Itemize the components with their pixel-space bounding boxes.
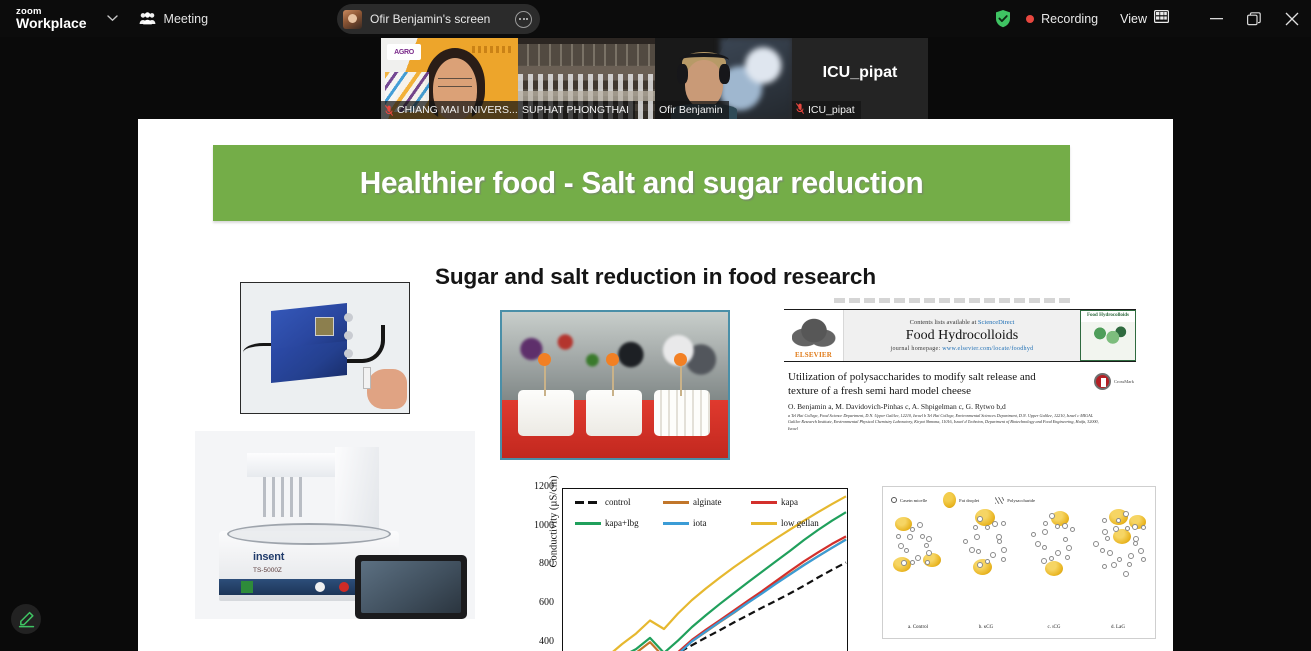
chevron-down-icon[interactable] (105, 11, 121, 27)
screen-share-indicator[interactable]: Ofir Benjamin's screen (337, 4, 540, 34)
people-group-icon (139, 12, 156, 25)
chart-y-tick: 400 (539, 636, 554, 647)
participant-video-strip: AGRO CHIANG MAI UNIVERS... SUPHAT PHONGT… (381, 38, 928, 119)
chart-legend-label: kapa (781, 497, 798, 507)
insent-touchscreen-monitor (355, 555, 467, 619)
micelle-panel-label-d: d. LaG (1087, 625, 1149, 630)
chart-legend-item: alginate (663, 497, 749, 507)
figure-micelle-schematic: Casein micelle Fat droplet Polysaccharid… (882, 486, 1156, 639)
insent-sensor-probes (263, 477, 305, 517)
layout-grid-icon (1154, 10, 1169, 28)
casein-micelle (1062, 523, 1068, 529)
chart-legend-item: kapa (751, 497, 837, 507)
crossmark-label: CrossMark (1114, 379, 1134, 384)
faint-header-line (834, 298, 1074, 303)
casein-micelle (1001, 557, 1006, 562)
legend-swatch (663, 522, 689, 525)
chart-y-tick: 1000 (534, 520, 554, 531)
recording-indicator[interactable]: Recording (1026, 12, 1098, 26)
mic-muted-icon (796, 103, 804, 117)
casein-micelle (1107, 550, 1113, 556)
zoom-titlebar: zoom Workplace Meeting Ofir Benjamin's s… (0, 0, 1311, 37)
casein-micelle (1123, 571, 1129, 577)
casein-micelle (910, 527, 915, 532)
casein-micelle (997, 539, 1002, 544)
legend-swatch (663, 501, 689, 504)
instrument-lower-unit (271, 341, 347, 383)
casein-micelle (1100, 548, 1105, 553)
sample-pick-3 (680, 362, 682, 396)
sample-flag-2 (606, 353, 619, 366)
insent-robot-arm (247, 453, 343, 477)
window-controls (1197, 0, 1311, 37)
casein-micelle (907, 534, 913, 540)
legend-label-casein: Casein micelle (900, 498, 927, 503)
legend-item-casein: Casein micelle (891, 497, 927, 503)
casein-micelle (915, 555, 921, 561)
casein-micelle (969, 547, 975, 553)
participant-name-label: Ofir Benjamin (655, 101, 729, 119)
participant-name-text: Ofir Benjamin (659, 104, 723, 116)
journal-cover-artwork (1088, 323, 1128, 349)
video-tile-suphat-phongthai[interactable]: SUPHAT PHONGTHAI (518, 38, 655, 119)
instrument-hose (347, 325, 385, 363)
casein-micelle (1035, 541, 1041, 547)
casein-micelle (985, 525, 990, 530)
casein-micelle (1141, 525, 1146, 530)
casein-micelle (1128, 553, 1134, 559)
recording-label: Recording (1041, 12, 1098, 26)
participant-glasses (438, 78, 472, 87)
chart-y-tick: 600 (539, 597, 554, 608)
casein-micelle (1065, 555, 1070, 560)
chart-plot-area: controlalginatekapakapa+lbgiotalow gella… (562, 488, 848, 651)
casein-micelle (925, 560, 930, 565)
figure-journal-article-screenshot: ELSEVIER Contents lists available at Sci… (784, 295, 1136, 433)
operator-hand (367, 369, 407, 409)
casein-micelle (1042, 545, 1047, 550)
casein-micelle (926, 536, 932, 542)
insent-model-label: TS-5000Z (253, 567, 282, 574)
participant-avatar (343, 10, 362, 29)
micelle-panel-label-b: b. κCG (955, 625, 1017, 630)
casein-micelle (1141, 557, 1146, 562)
headphone-left-cup (677, 64, 688, 84)
chart-legend-label: kapa+lbg (605, 518, 639, 528)
article-authors: O. Benjamin a, M. Davidovich-Pinhas c, A… (788, 402, 1088, 411)
casein-micelle (977, 516, 983, 522)
casein-micelle-icon (891, 497, 897, 503)
article-affiliations: a Tel Hai College, Food Science Departme… (788, 413, 1104, 432)
view-label: View (1120, 12, 1147, 26)
micelle-panel-label-a: a. Control (887, 625, 949, 630)
casein-micelle (904, 548, 909, 553)
casein-micelle (1041, 558, 1047, 564)
casein-micelle (1127, 562, 1132, 567)
casein-micelle (1043, 521, 1048, 526)
homepage-link[interactable]: www.elsevier.com/locate/foodhyd (942, 346, 1033, 352)
chart-legend-item: low gellan (751, 518, 837, 528)
casein-micelle (990, 552, 996, 558)
insent-red-button (339, 582, 349, 592)
screen-share-label: Ofir Benjamin's screen (370, 12, 515, 26)
participant-name-text: CHIANG MAI UNIVERS... (397, 104, 518, 116)
figure-cheese-samples-photo (500, 310, 730, 460)
chart-legend-label: alginate (693, 497, 722, 507)
sample-pick-1 (544, 362, 546, 396)
micelle-cluster-d (1089, 507, 1153, 581)
journal-name: Food Hydrocolloids (906, 328, 1018, 344)
elsevier-tree-icon (792, 317, 836, 351)
chart-legend-label: control (605, 497, 631, 507)
view-button[interactable]: View (1120, 10, 1169, 28)
more-options-icon[interactable] (515, 11, 532, 28)
casein-micelle (974, 534, 980, 540)
chart-y-tick: 800 (539, 558, 554, 569)
slide-title-banner: Healthier food - Salt and sugar reductio… (213, 145, 1070, 221)
legend-swatch (751, 501, 777, 504)
video-tile-chiang-mai[interactable]: AGRO CHIANG MAI UNIVERS... (381, 38, 518, 119)
casein-micelle (1049, 513, 1055, 519)
legend-swatch (751, 522, 777, 525)
insent-sample-carousel (227, 523, 391, 545)
casein-micelle (1105, 536, 1110, 541)
casein-micelle (976, 549, 981, 554)
instrument-display (315, 317, 334, 336)
casein-micelle (898, 543, 904, 549)
elsevier-wordmark: ELSEVIER (795, 351, 832, 359)
casein-micelle (896, 534, 901, 539)
casein-micelle (1049, 556, 1054, 561)
casein-micelle (1138, 548, 1144, 554)
participant-display-name: ICU_pipat (792, 64, 928, 82)
minimize-icon[interactable] (1197, 0, 1235, 37)
casein-micelle (1102, 529, 1108, 535)
participant-name-label: SUPHAT PHONGTHAI (518, 101, 635, 119)
journal-header-box: ELSEVIER Contents lists available at Sci… (784, 309, 1136, 362)
participant-name-label: ICU_pipat (792, 101, 861, 119)
decorative-stripe (472, 46, 512, 53)
casein-micelle (1001, 547, 1007, 553)
zoom-workplace-logo: zoom Workplace (16, 7, 87, 30)
casein-micelle (917, 522, 923, 528)
journal-header-center: Contents lists available at ScienceDirec… (844, 310, 1080, 361)
contents-lists-prefix: Contents lists available at (910, 319, 978, 326)
chart-legend-item: iota (663, 518, 749, 528)
figure-insent-taste-sensing-system: insent TS-5000Z (195, 431, 475, 619)
chart-y-axis-ticks: 12001000800600400200 (524, 488, 554, 651)
chart-legend-item: control (575, 497, 661, 507)
casein-micelle (1055, 524, 1060, 529)
casein-micelle (1111, 562, 1117, 568)
shared-screen-content: Healthier food - Salt and sugar reductio… (138, 119, 1173, 651)
micelle-panel-label-c: c. ιCG (1023, 625, 1085, 630)
fat-droplet-icon (943, 492, 956, 508)
casein-micelle (963, 539, 968, 544)
journal-homepage-line: journal homepage: www.elsevier.com/locat… (891, 346, 1034, 352)
casein-micelle (973, 525, 978, 530)
fat-droplet (1045, 561, 1063, 576)
video-tile-icu-pipat[interactable]: ICU_pipat ICU_pipat (792, 38, 928, 119)
close-icon[interactable] (1273, 0, 1311, 37)
article-title: Utilization of polysaccharides to modify… (788, 371, 1060, 399)
casein-micelle (1001, 521, 1006, 526)
room-window (518, 44, 655, 66)
journal-cover-title: Food Hydrocolloids (1087, 313, 1129, 319)
casein-micelle (910, 560, 915, 565)
insent-brand-label: insent (253, 551, 284, 563)
figure-conductivity-line-chart: Conductivity (µS/cm) 1200100080060040020… (518, 482, 848, 651)
micelle-legend: Casein micelle Fat droplet Polysaccharid… (891, 492, 1035, 508)
casein-micelle (996, 534, 1002, 540)
sample-pick-2 (612, 362, 614, 396)
casein-micelle (1042, 529, 1048, 535)
participant-name-label: CHIANG MAI UNIVERS... (381, 101, 518, 119)
cheese-sample-2 (586, 390, 642, 436)
chart-legend-label: low gellan (781, 518, 819, 528)
contents-lists-line: Contents lists available at ScienceDirec… (910, 319, 1015, 326)
meeting-tab-label: Meeting (164, 12, 208, 26)
sample-tube (363, 367, 371, 389)
polysaccharide-icon (995, 497, 1004, 504)
casein-micelle (1070, 527, 1075, 532)
agro-logo: AGRO (387, 44, 421, 60)
insent-white-button (315, 582, 325, 592)
casein-micelle (924, 543, 929, 548)
titlebar-right-controls: Recording View (994, 0, 1311, 37)
casein-micelle (1102, 564, 1107, 569)
casein-micelle (1055, 550, 1061, 556)
journal-cover-thumbnail: Food Hydrocolloids (1080, 310, 1136, 361)
legend-label-fat: Fat droplet (959, 498, 979, 503)
elsevier-logo: ELSEVIER (784, 310, 844, 361)
headphone-right-cup (719, 64, 730, 84)
chart-legend-item: kapa+lbg (575, 518, 661, 528)
homepage-prefix: journal homepage: (891, 346, 943, 352)
crossmark-icon (1094, 373, 1111, 390)
casein-micelle (1125, 526, 1130, 531)
room-desk (518, 91, 655, 101)
casein-micelle (1066, 545, 1072, 551)
participant-name-text: SUPHAT PHONGTHAI (522, 104, 629, 116)
casein-micelle (1117, 557, 1122, 562)
instrument-port-1 (344, 313, 353, 322)
sciencedirect-link[interactable]: ScienceDirect (978, 319, 1014, 326)
encryption-shield-icon[interactable] (994, 9, 1012, 28)
crossmark-badge: CrossMark (1094, 373, 1134, 390)
insent-power-indicator (241, 581, 253, 593)
legend-label-polysaccharide: Polysaccharide (1007, 498, 1035, 503)
casein-micelle (1093, 541, 1099, 547)
sample-flag-3 (674, 353, 687, 366)
casein-micelle (1063, 537, 1068, 542)
monitor-screen (361, 561, 461, 613)
cheese-sample-1 (518, 390, 574, 436)
annotate-button[interactable] (11, 604, 41, 634)
casein-micelle (920, 534, 925, 539)
cheese-sample-3 (654, 390, 710, 436)
maximize-restore-icon[interactable] (1235, 0, 1273, 37)
legend-item-polysaccharide: Polysaccharide (995, 497, 1035, 504)
chart-y-tick: 1200 (534, 481, 554, 492)
chart-legend-label: iota (693, 518, 707, 528)
casein-micelle (1132, 524, 1138, 530)
video-tile-ofir-benjamin[interactable]: Ofir Benjamin (655, 38, 792, 119)
mic-muted-icon (385, 105, 393, 116)
micelle-cluster-b (959, 509, 1017, 583)
zoom-logo-bottom: Workplace (16, 16, 87, 30)
annotate-pencil-icon (18, 611, 35, 628)
legend-swatch (575, 522, 601, 525)
micelle-cluster-a (891, 513, 949, 587)
recording-dot-icon (1026, 15, 1034, 23)
figure-blue-instrument-photo (240, 282, 410, 414)
meeting-tab[interactable]: Meeting (139, 12, 208, 26)
legend-swatch (575, 501, 601, 504)
casein-micelle (1031, 532, 1036, 537)
sample-flag-1 (538, 353, 551, 366)
slide-title: Healthier food - Salt and sugar reductio… (360, 165, 924, 201)
micelle-cluster-c (1027, 509, 1085, 583)
casein-micelle (992, 521, 998, 527)
casein-micelle (985, 559, 990, 564)
legend-item-fat: Fat droplet (943, 492, 979, 508)
chart-legend: controlalginatekapakapa+lbgiotalow gella… (575, 497, 837, 528)
participant-name-text: ICU_pipat (808, 104, 855, 116)
casein-micelle (1102, 518, 1107, 523)
